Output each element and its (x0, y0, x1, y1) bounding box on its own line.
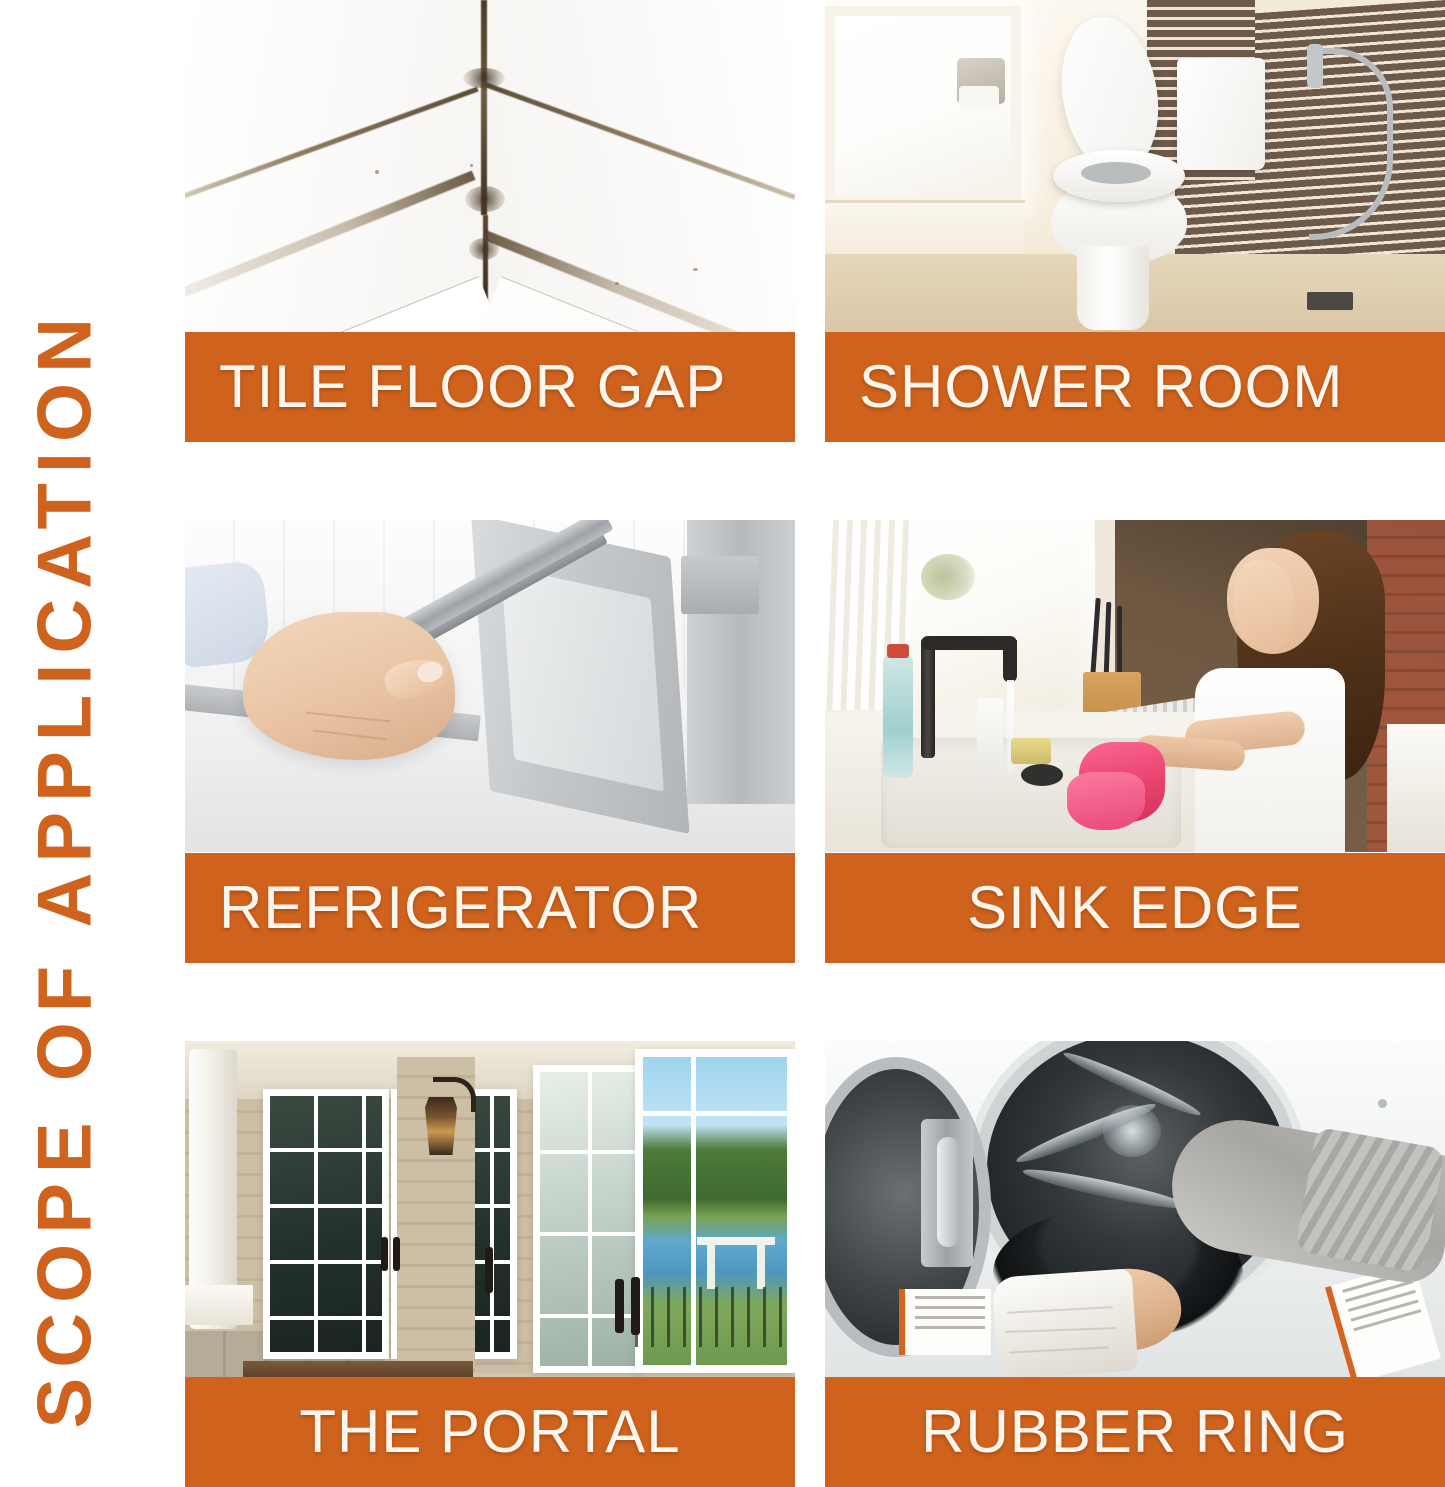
label-bar-the-portal: THE PORTAL (185, 1377, 795, 1487)
cell-shower-room[interactable]: SHOWER ROOM (825, 0, 1445, 442)
cell-refrigerator[interactable]: REFRIGERATOR (185, 520, 795, 963)
washing-machine-seal-photo (825, 1041, 1445, 1377)
label-rubber-ring: RUBBER RING (921, 1402, 1349, 1462)
cell-rubber-ring[interactable]: RUBBER RING (825, 1041, 1445, 1487)
fridge-door-gasket-photo (185, 520, 795, 852)
label-bar-tile-floor-gap: TILE FLOOR GAP (185, 332, 795, 442)
cell-tile-floor-gap[interactable]: TILE FLOOR GAP (185, 0, 795, 442)
application-scope-grid: TILE FLOOR GAP SHOWER ROOM (185, 0, 1445, 1487)
label-bar-refrigerator: REFRIGERATOR (185, 853, 795, 963)
scope-of-application-title: SCOPE OF APPLICATION (0, 0, 170, 1487)
label-bar-shower-room: SHOWER ROOM (825, 332, 1445, 442)
cell-the-portal[interactable]: THE PORTAL (185, 1041, 795, 1487)
tile-corner-moldy-grout-photo (185, 0, 795, 332)
girl-washing-dishes-photo (825, 520, 1445, 852)
label-bar-sink-edge: SINK EDGE (825, 853, 1445, 963)
french-doors-porch-photo (185, 1041, 795, 1377)
label-bar-rubber-ring: RUBBER RING (825, 1377, 1445, 1487)
label-the-portal: THE PORTAL (299, 1402, 680, 1462)
bathroom-toilet-photo (825, 0, 1445, 332)
cell-sink-edge[interactable]: SINK EDGE (825, 520, 1445, 963)
label-tile-floor-gap: TILE FLOOR GAP (219, 357, 726, 417)
label-sink-edge: SINK EDGE (967, 878, 1303, 938)
label-refrigerator: REFRIGERATOR (219, 878, 702, 938)
side-title-text: SCOPE OF APPLICATION (22, 29, 109, 1439)
label-shower-room: SHOWER ROOM (859, 357, 1343, 417)
